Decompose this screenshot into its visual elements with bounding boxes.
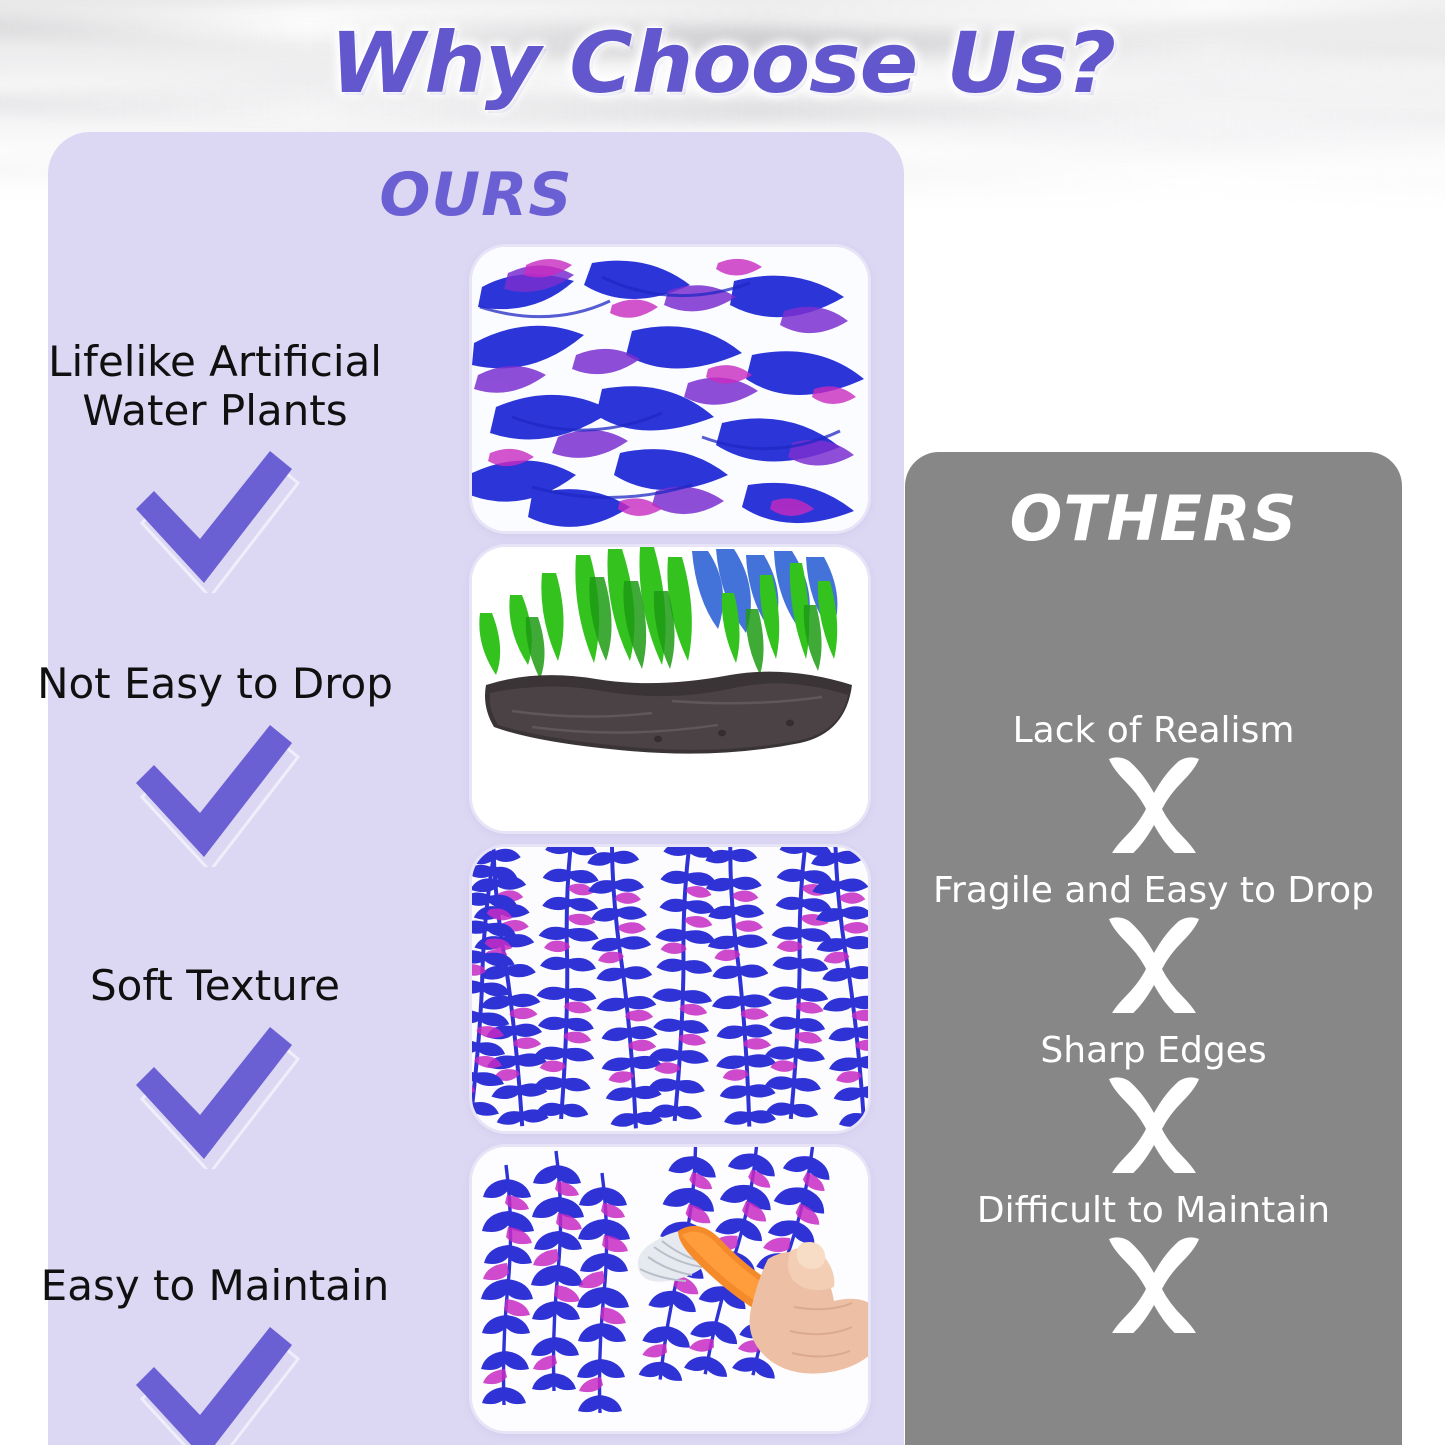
ours-feature-label: Not Easy to Drop bbox=[0, 660, 430, 709]
x-icon bbox=[1099, 753, 1209, 853]
ours-feature-row: Not Easy to Drop bbox=[0, 660, 430, 867]
ours-feature-row: Soft Texture bbox=[0, 962, 430, 1169]
page-title: Why Choose Us? bbox=[0, 14, 1445, 112]
check-icon bbox=[120, 717, 310, 867]
ours-feature-image bbox=[472, 547, 868, 831]
others-item-row: Sharp Edges bbox=[905, 1030, 1402, 1173]
x-icon bbox=[1099, 1073, 1209, 1173]
ours-feature-label: Lifelike Artificial Water Plants bbox=[0, 338, 430, 435]
others-item-label: Fragile and Easy to Drop bbox=[905, 870, 1402, 911]
others-item-row: Difficult to Maintain bbox=[905, 1190, 1402, 1333]
others-item-row: Lack of Realism bbox=[905, 710, 1402, 853]
ours-feature-row: Lifelike Artificial Water Plants bbox=[0, 338, 430, 593]
ours-heading: OURS bbox=[48, 160, 904, 230]
ours-feature-image bbox=[472, 247, 868, 531]
x-icon bbox=[1099, 1233, 1209, 1333]
others-item-label: Lack of Realism bbox=[905, 710, 1402, 751]
others-heading: OTHERS bbox=[905, 482, 1402, 555]
ours-feature-image bbox=[472, 847, 868, 1131]
ours-feature-image bbox=[472, 1147, 868, 1431]
ours-feature-label: Soft Texture bbox=[0, 962, 430, 1011]
others-item-label: Difficult to Maintain bbox=[905, 1190, 1402, 1231]
ours-feature-row: Easy to Maintain bbox=[0, 1262, 430, 1445]
infographic-canvas: Why Choose Us? OURS Lifelike Artificial … bbox=[0, 0, 1445, 1445]
ours-feature-label: Easy to Maintain bbox=[0, 1262, 430, 1311]
check-icon bbox=[120, 1019, 310, 1169]
others-item-label: Sharp Edges bbox=[905, 1030, 1402, 1071]
others-item-row: Fragile and Easy to Drop bbox=[905, 870, 1402, 1013]
check-icon bbox=[120, 443, 310, 593]
x-icon bbox=[1099, 913, 1209, 1013]
check-icon bbox=[120, 1319, 310, 1445]
